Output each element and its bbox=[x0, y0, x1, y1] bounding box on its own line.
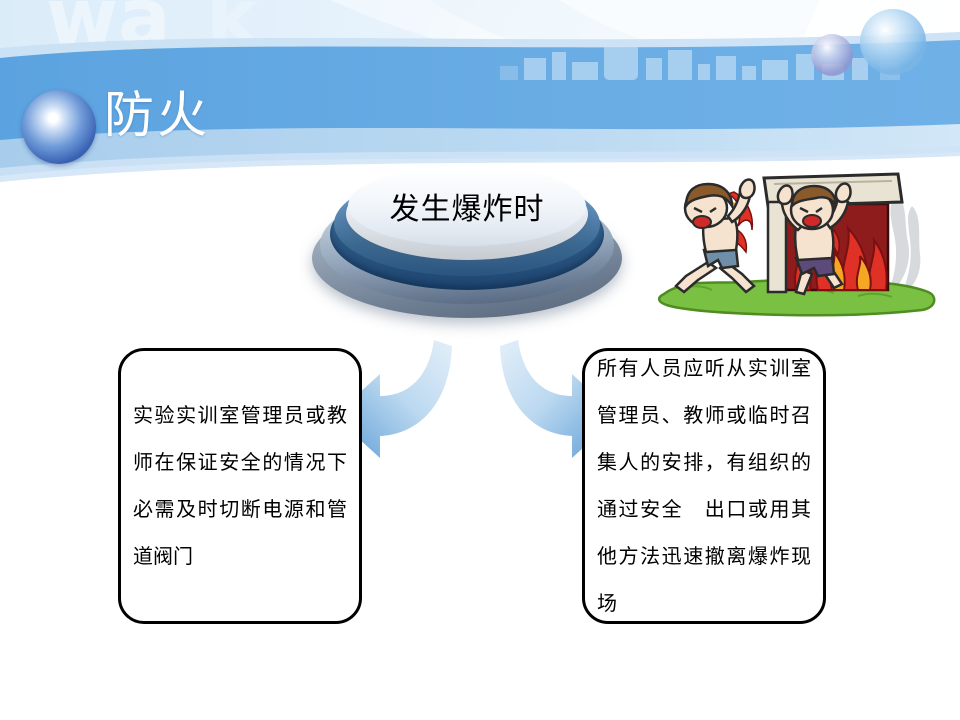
info-box-left[interactable]: 实验实训室管理员或教师在保证安全的情况下必需及时切断电源和管道阀门 bbox=[118, 348, 362, 624]
person-running bbox=[676, 180, 755, 293]
info-box-left-text: 实验实训室管理员或教师在保证安全的情况下必需及时切断电源和管道阀门 bbox=[121, 392, 359, 580]
city-skyline-silhouette bbox=[500, 44, 900, 80]
blue-sphere-bullet-icon bbox=[22, 90, 96, 164]
background-watermark: wa k bbox=[46, 0, 260, 63]
smoke-shape bbox=[890, 194, 920, 288]
center-button[interactable]: 发生爆炸时 bbox=[312, 164, 622, 324]
svg-text:wa: wa bbox=[46, 0, 171, 63]
center-button-label: 发生爆炸时 bbox=[348, 166, 586, 246]
cartoon-people-fleeing-fire-illustration bbox=[646, 166, 950, 332]
slide-canvas: wa k bbox=[0, 0, 960, 720]
info-box-right-text: 所有人员应听从实训室管理员、教师或临时召集人的安排，有组织的通过安全 出口或用其… bbox=[585, 345, 823, 627]
info-box-right[interactable]: 所有人员应听从实训室管理员、教师或临时召集人的安排，有组织的通过安全 出口或用其… bbox=[582, 348, 826, 624]
svg-text:k: k bbox=[206, 0, 260, 63]
decorative-sphere-large bbox=[860, 9, 926, 75]
page-title: 防火 bbox=[104, 82, 210, 148]
decorative-sphere-small bbox=[811, 34, 853, 76]
